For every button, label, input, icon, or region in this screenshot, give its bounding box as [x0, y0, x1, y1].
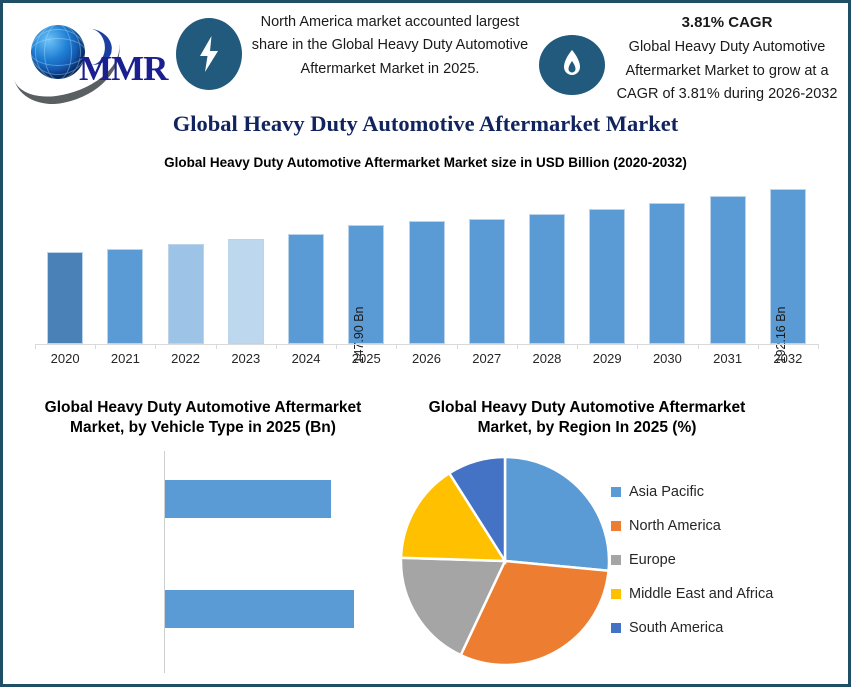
axis-tick [35, 344, 36, 349]
axis-tick [396, 344, 397, 349]
axis-tick [577, 344, 578, 349]
column-chart-x-label: 2023 [216, 351, 276, 366]
column-bar [469, 219, 505, 344]
flame-icon [539, 35, 605, 95]
column-bar: 192.16 Bn [770, 189, 806, 344]
legend-color-swatch [611, 521, 621, 531]
mmr-logo: MMR [13, 15, 173, 95]
axis-tick [155, 344, 156, 349]
bar-chart-title: Global Heavy Duty Automotive Aftermarket… [21, 398, 385, 439]
column-chart-x-label: 2031 [698, 351, 758, 366]
axis-tick [216, 344, 217, 349]
legend-color-swatch [611, 555, 621, 565]
column-chart-x-label: 2026 [397, 351, 457, 366]
region-pie-chart: Global Heavy Duty Automotive Aftermarket… [399, 395, 851, 685]
column-chart-x-label: 2029 [577, 351, 637, 366]
horizontal-bar-category-label: Class 4 to Class 6 [0, 600, 3, 616]
column-chart-x-label: 2032 [758, 351, 818, 366]
column-bar [409, 221, 445, 345]
horizontal-bar [165, 480, 331, 518]
axis-tick [457, 344, 458, 349]
column-bar [228, 239, 264, 344]
column-bar [107, 249, 143, 344]
pie-chart-graphic [399, 453, 611, 669]
axis-tick [637, 344, 638, 349]
horizontal-bar [165, 590, 354, 628]
column-chart-x-label: 2022 [156, 351, 216, 366]
legend-item-label: Asia Pacific [629, 484, 704, 500]
column-bar [649, 203, 685, 344]
column-chart-axis-line [35, 344, 818, 345]
column-chart-plot: 147.90 Bn192.16 Bn [35, 171, 818, 344]
column-bar [529, 214, 565, 344]
cagr-body: Global Heavy Duty Automotive Aftermarket… [617, 39, 838, 102]
market-size-column-chart: Global Heavy Duty Automotive Aftermarket… [3, 151, 848, 379]
legend-item: Middle East and Africa [611, 577, 841, 611]
column-chart-x-label: 2024 [276, 351, 336, 366]
axis-tick [95, 344, 96, 349]
column-bar [710, 196, 746, 344]
axis-tick [276, 344, 277, 349]
logo-text: MMR [79, 49, 167, 89]
pie-chart-legend: Asia PacificNorth AmericaEuropeMiddle Ea… [611, 475, 841, 645]
axis-tick [818, 344, 819, 349]
header-callout-left: North America market accounted largest s… [246, 11, 534, 81]
column-chart-title: Global Heavy Duty Automotive Aftermarket… [3, 155, 848, 170]
column-chart-x-label: 2028 [517, 351, 577, 366]
column-chart-x-label: 2027 [457, 351, 517, 366]
axis-tick [698, 344, 699, 349]
legend-item: Asia Pacific [611, 475, 841, 509]
infographic-page: MMR North America market accounted large… [0, 0, 851, 687]
header-callout-right: 3.81% CAGR Global Heavy Duty Automotive … [607, 11, 847, 107]
legend-item-label: North America [629, 518, 721, 534]
lightning-bolt-icon [176, 18, 242, 90]
horizontal-bar-category-label: Class 7 and Class 8 [0, 490, 3, 506]
legend-item-label: South America [629, 620, 723, 636]
legend-item: Europe [611, 543, 841, 577]
column-bar [288, 234, 324, 344]
column-chart-x-label: 2030 [637, 351, 697, 366]
vehicle-type-bar-chart: Global Heavy Duty Automotive Aftermarket… [7, 395, 399, 681]
pie-slice [505, 457, 609, 571]
legend-item: South America [611, 611, 841, 645]
legend-color-swatch [611, 589, 621, 599]
column-chart-x-label: 2025 [336, 351, 396, 366]
legend-color-swatch [611, 623, 621, 633]
column-bar [168, 244, 204, 344]
axis-tick [517, 344, 518, 349]
axis-tick [336, 344, 337, 349]
header-band: MMR North America market accounted large… [3, 3, 848, 108]
legend-item: North America [611, 509, 841, 543]
column-chart-x-label: 2021 [95, 351, 155, 366]
pie-chart-title: Global Heavy Duty Automotive Aftermarket… [417, 398, 757, 439]
column-bar: 147.90 Bn [348, 225, 384, 344]
legend-item-label: Middle East and Africa [629, 586, 773, 602]
legend-color-swatch [611, 487, 621, 497]
legend-item-label: Europe [629, 552, 676, 568]
column-chart-x-label: 2020 [35, 351, 95, 366]
column-bar [589, 209, 625, 344]
page-title: Global Heavy Duty Automotive Aftermarket… [3, 111, 848, 137]
axis-tick [758, 344, 759, 349]
column-bar [47, 252, 83, 344]
cagr-heading: 3.81% CAGR [607, 11, 847, 35]
